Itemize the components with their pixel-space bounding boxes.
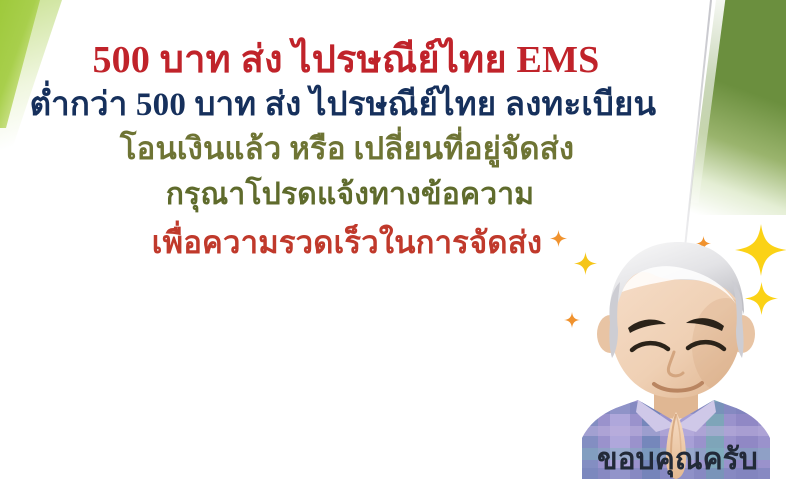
notice-line-3-transfer-or-address-change: โอนเงินแล้ว หรือ เปลี่ยนที่อยู่จัดส่ง bbox=[0, 127, 680, 171]
sparkle-small-orange-c-icon bbox=[696, 236, 711, 251]
notice-line-5-for-fast-delivery: เพื่อความรวดเร็วในการจัดส่ง bbox=[0, 219, 680, 266]
white-streak-decoration bbox=[683, 0, 726, 203]
avatar-caption-thank-you: ขอบคุณครับ bbox=[575, 436, 780, 479]
shipping-notice-text-block: 500 บาท ส่ง ไปรษณีย์ไทย EMS ต่ำกว่า 500 … bbox=[0, 0, 680, 267]
sparkle-medium-yellow-b-icon bbox=[745, 282, 778, 315]
notice-line-4-notify-by-message: กรุณาโปรดแจ้งทางข้อความ bbox=[0, 171, 680, 219]
sparkle-large-yellow-icon bbox=[735, 224, 786, 276]
sparkle-small-orange-b-icon bbox=[564, 312, 580, 328]
hairline-divider-decoration bbox=[682, 0, 712, 269]
notice-line-2-registered-rate: ต่ำกว่า 500 บาท ส่ง ไปรษณีย์ไทย ลงทะเบีย… bbox=[0, 83, 680, 128]
notice-line-1-ems-rate: 500 บาท ส่ง ไปรษณีย์ไทย EMS bbox=[0, 38, 680, 83]
poster-canvas: 500 บาท ส่ง ไปรษณีย์ไทย EMS ต่ำกว่า 500 … bbox=[0, 0, 786, 479]
